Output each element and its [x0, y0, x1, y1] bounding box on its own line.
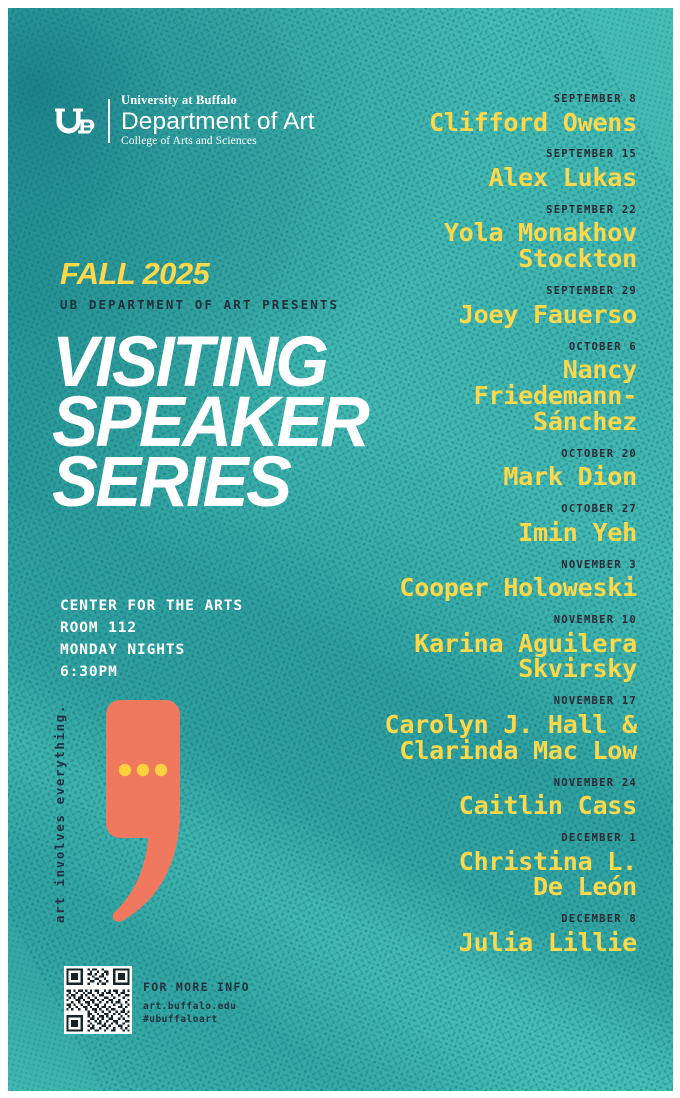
list-item[interactable]: NOVEMBER 10 Karina Aguilera Skvirsky [337, 615, 637, 682]
season-eyebrow: FALL 2025 [60, 256, 209, 292]
speaker-name-line: De León [337, 874, 637, 900]
speaker-name-line: Stockton [337, 246, 637, 272]
speaker-date: OCTOBER 6 [337, 342, 637, 354]
speaker-name-line: Joey Fauerso [337, 302, 637, 328]
venue-room: ROOM 112 [60, 617, 243, 639]
presents-line: UB DEPARTMENT OF ART PRESENTS [60, 297, 339, 312]
ub-logo-lockup: University at Buffalo Department of Art … [54, 94, 315, 148]
speaker-name-line: Friedemann- [337, 383, 637, 409]
venue-details: CENTER FOR THE ARTS ROOM 112 MONDAY NIGH… [60, 595, 243, 683]
logo-university-name: University at Buffalo [121, 94, 315, 107]
logo-department-name: Department of Art [121, 110, 315, 135]
list-item[interactable]: DECEMBER 1 Christina L. De León [337, 833, 637, 900]
speaker-date: NOVEMBER 24 [337, 778, 637, 790]
speaker-name-line: Clarinda Mac Low [337, 738, 637, 764]
speaker-name-line: Caitlin Cass [337, 793, 637, 819]
logo-college-name: College of Arts and Sciences [121, 136, 315, 148]
speaker-name-line: Yola Monakhov [337, 220, 637, 246]
speaker-name-line: Julia Lillie [337, 930, 637, 956]
list-item[interactable]: OCTOBER 20 Mark Dion [337, 449, 637, 490]
speaker-name-line: Mark Dion [337, 464, 637, 490]
speaker-date: OCTOBER 20 [337, 449, 637, 461]
speaker-name: Yola Monakhov Stockton [337, 220, 637, 272]
speaker-name: Carolyn J. Hall & Clarinda Mac Low [337, 712, 637, 764]
tagline-vertical: art involves everything. [52, 710, 271, 925]
speaker-schedule-list: SEPTEMBER 8 Clifford Owens SEPTEMBER 15 … [337, 94, 637, 970]
qr-code[interactable] [64, 966, 132, 1034]
list-item[interactable]: NOVEMBER 17 Carolyn J. Hall & Clarinda M… [337, 696, 637, 763]
speaker-name: Karina Aguilera Skvirsky [337, 631, 637, 683]
speaker-name-line: Alex Lukas [337, 165, 637, 191]
speaker-name-line: Christina L. [337, 849, 637, 875]
poster-canvas: University at Buffalo Department of Art … [8, 8, 673, 1091]
speaker-name: Mark Dion [337, 464, 637, 490]
venue-schedule: MONDAY NIGHTS [60, 639, 243, 661]
speaker-name-line: Sánchez [337, 409, 637, 435]
speaker-name: Caitlin Cass [337, 793, 637, 819]
poster-title: VISITING SPEAKER SERIES [52, 333, 367, 513]
poster-page: University at Buffalo Department of Art … [0, 0, 680, 1098]
logo-text-block: University at Buffalo Department of Art … [121, 94, 315, 148]
more-info-heading: FOR MORE INFO [143, 980, 250, 994]
speaker-name-line: Carolyn J. Hall & [337, 712, 637, 738]
tagline-text: art involves everything. [52, 704, 67, 923]
website-link[interactable]: art.buffalo.edu [143, 1000, 250, 1013]
list-item[interactable]: DECEMBER 8 Julia Lillie [337, 914, 637, 955]
speaker-date: OCTOBER 27 [337, 504, 637, 516]
speaker-name-line: Skvirsky [337, 656, 637, 682]
speaker-name-line: Nancy [337, 357, 637, 383]
speaker-date: NOVEMBER 17 [337, 696, 637, 708]
speaker-name: Joey Fauerso [337, 302, 637, 328]
list-item[interactable]: OCTOBER 6 Nancy Friedemann- Sánchez [337, 342, 637, 435]
speaker-date: SEPTEMBER 22 [337, 205, 637, 217]
speaker-name-line: Imin Yeh [337, 520, 637, 546]
speaker-name-line: Clifford Owens [337, 110, 637, 136]
list-item[interactable]: NOVEMBER 24 Caitlin Cass [337, 778, 637, 819]
list-item[interactable]: SEPTEMBER 8 Clifford Owens [337, 94, 637, 135]
venue-location: CENTER FOR THE ARTS [60, 595, 243, 617]
speaker-name: Imin Yeh [337, 520, 637, 546]
list-item[interactable]: SEPTEMBER 15 Alex Lukas [337, 149, 637, 190]
speaker-date: SEPTEMBER 15 [337, 149, 637, 161]
logo-divider [108, 99, 110, 143]
speaker-name: Julia Lillie [337, 930, 637, 956]
speaker-date: SEPTEMBER 8 [337, 94, 637, 106]
speaker-date: NOVEMBER 10 [337, 615, 637, 627]
speaker-name: Clifford Owens [337, 110, 637, 136]
speaker-date: NOVEMBER 3 [337, 560, 637, 572]
speaker-name-line: Cooper Holoweski [337, 575, 637, 601]
list-item[interactable]: NOVEMBER 3 Cooper Holoweski [337, 560, 637, 601]
venue-time: 6:30PM [60, 661, 243, 683]
speaker-date: DECEMBER 8 [337, 914, 637, 926]
list-item[interactable]: OCTOBER 27 Imin Yeh [337, 504, 637, 545]
hashtag-label: #ubuffaloart [143, 1013, 250, 1026]
more-info-block: FOR MORE INFO art.buffalo.edu #ubuffaloa… [143, 980, 250, 1027]
speaker-name-line: Karina Aguilera [337, 631, 637, 657]
speaker-name: Alex Lukas [337, 165, 637, 191]
ub-logo-mark [54, 104, 100, 138]
speaker-date: SEPTEMBER 29 [337, 286, 637, 298]
list-item[interactable]: SEPTEMBER 22 Yola Monakhov Stockton [337, 205, 637, 272]
speaker-name: Cooper Holoweski [337, 575, 637, 601]
list-item[interactable]: SEPTEMBER 29 Joey Fauerso [337, 286, 637, 327]
speaker-name: Christina L. De León [337, 849, 637, 901]
speaker-date: DECEMBER 1 [337, 833, 637, 845]
speaker-name: Nancy Friedemann- Sánchez [337, 357, 637, 435]
